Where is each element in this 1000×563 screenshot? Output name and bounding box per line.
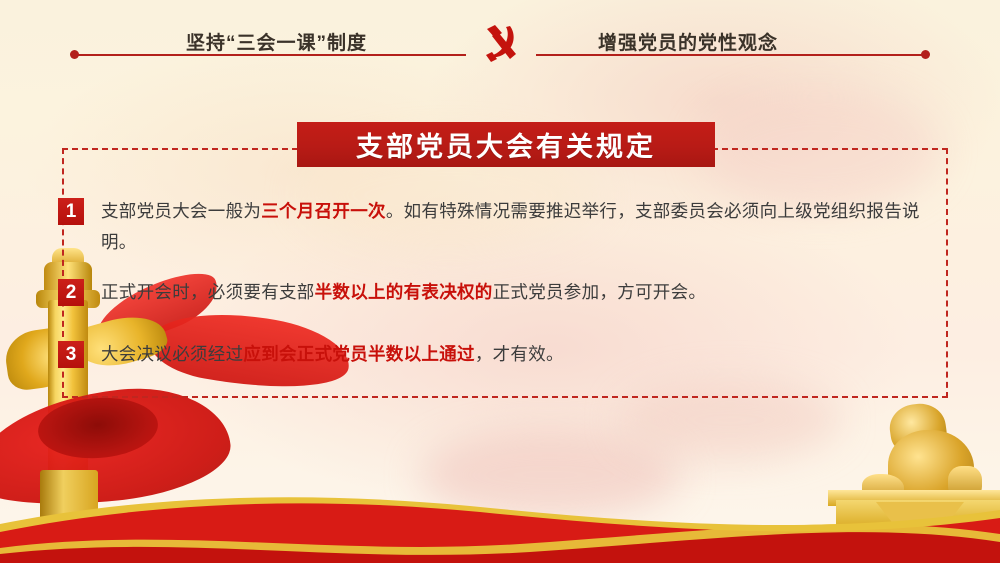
item-text-segment: 正式开会时，必须要有支部 xyxy=(101,282,315,302)
lion-pedestal xyxy=(836,500,1000,563)
presentation-slide: 坚持“三会一课”制度 增强党员的党性观念 xyxy=(0,0,1000,563)
slide-title-banner: 支部党员大会有关规定 xyxy=(297,122,715,167)
guardian-lion-paw xyxy=(862,474,904,502)
item-text: 支部党员大会一般为三个月召开一次。如有特殊情况需要推迟举行，支部委员会必须向上级… xyxy=(101,196,938,258)
item-number-badge: 1 xyxy=(58,198,84,225)
item-text-highlight: 三个月召开一次 xyxy=(261,201,386,221)
red-ribbon-swirl xyxy=(0,379,235,516)
page-title: 支部党员大会有关规定 xyxy=(356,125,656,164)
lion-pedestal-cap xyxy=(828,490,1000,506)
list-item: 1 支部党员大会一般为三个月召开一次。如有特殊情况需要推迟举行，支部委员会必须向… xyxy=(58,196,938,258)
item-text-segment: 支部党员大会一般为 xyxy=(101,201,261,221)
item-number-badge: 2 xyxy=(58,279,84,306)
guardian-lion-head xyxy=(887,400,949,457)
list-item: 2 正式开会时，必须要有支部半数以上的有表决权的正式党员参加，方可开会。 xyxy=(58,277,938,308)
lion-pedestal-ornament xyxy=(876,502,964,558)
header-rule-dot-right xyxy=(921,50,930,59)
item-text-highlight: 应到会正式党员半数以上通过 xyxy=(243,344,474,364)
guardian-lion-paw xyxy=(948,466,982,500)
item-text-segment: 大会决议必须经过 xyxy=(101,344,243,364)
header-slogan-right: 增强党员的党性观念 xyxy=(598,28,778,55)
bottom-wave-artwork xyxy=(0,440,1000,563)
item-text: 正式开会时，必须要有支部半数以上的有表决权的正式党员参加，方可开会。 xyxy=(101,277,706,308)
item-text-highlight: 半数以上的有表决权的 xyxy=(315,282,493,302)
header-slogan-left: 坚持“三会一课”制度 xyxy=(186,28,367,55)
background-cloud xyxy=(420,430,680,520)
red-ribbon-ring xyxy=(36,394,160,462)
item-text-segment: 正式党员参加，方可开会。 xyxy=(493,282,707,302)
item-number-badge: 3 xyxy=(58,341,84,368)
item-text: 大会决议必须经过应到会正式党员半数以上通过，才有效。 xyxy=(101,339,564,370)
huabiao-base xyxy=(40,470,98,540)
hammer-and-sickle-icon xyxy=(470,20,530,68)
guardian-lion-body xyxy=(888,430,974,506)
list-item: 3 大会决议必须经过应到会正式党员半数以上通过，才有效。 xyxy=(58,339,938,370)
item-text-segment: ，才有效。 xyxy=(475,344,564,364)
